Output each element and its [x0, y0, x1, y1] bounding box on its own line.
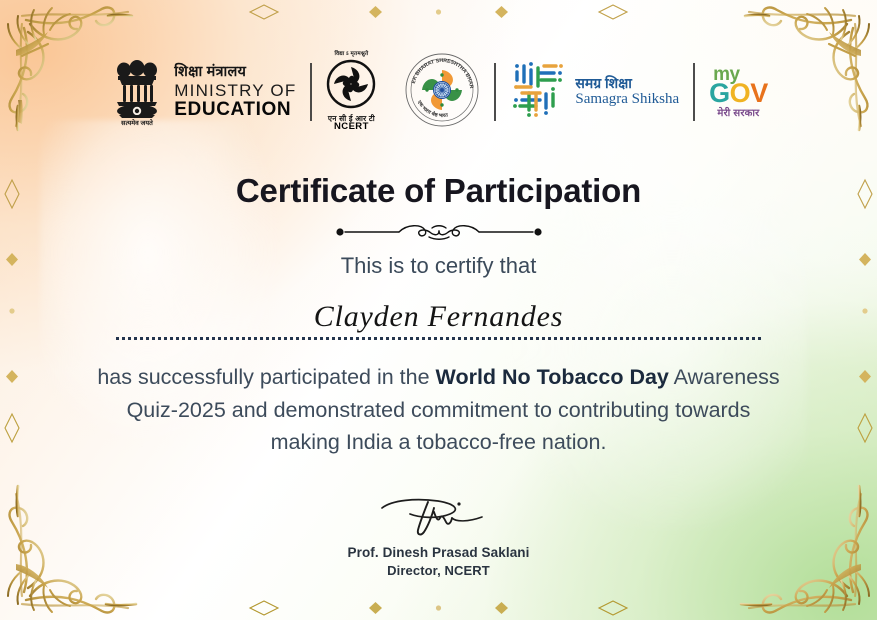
signature-icon	[0, 492, 877, 543]
recipient-name: Clayden Fernandes	[0, 300, 877, 334]
ek-bharat-emblem-icon: EK BHARAT SHRESHTHA BHARAT एक भारत श्रेष…	[404, 52, 480, 133]
ministry-hindi-label: शिक्षा मंत्रालय	[174, 65, 296, 80]
body-text-highlight: World No Tobacco Day	[436, 365, 669, 389]
ncert-logo: विद्या ऽ मृतमश्नुते एन सी ई आर टी	[312, 52, 390, 132]
title-flourish-divider	[0, 221, 877, 243]
ek-bharat-shreshtha-bharat-logo: EK BHARAT SHRESHTHA BHARAT एक भारत श्रेष…	[390, 52, 494, 132]
signature-block: Prof. Dinesh Prasad Saklani Director, NC…	[0, 492, 877, 578]
samagra-hindi-label: समग्र शिक्षा	[575, 75, 679, 91]
mygov-subtitle: मेरी सरकार	[717, 109, 759, 119]
logo-divider-1	[310, 63, 312, 121]
samagra-shiksha-logo: समग्र शिक्षा Samagra Shiksha	[496, 52, 693, 132]
mygov-letter-v: V	[750, 78, 768, 108]
signatory-name: Prof. Dinesh Prasad Saklani	[0, 545, 877, 560]
certificate-canvas: सत्यमेव जयते शिक्षा मंत्रालय MINISTRY OF…	[0, 0, 877, 620]
logo-divider-3	[693, 63, 695, 121]
logo-divider-2	[494, 63, 496, 121]
emblem-motto-text: सत्यमेव जयते	[120, 119, 153, 127]
border-rail-bottom	[120, 601, 757, 615]
name-dotted-rule	[116, 337, 761, 343]
certificate-body-text: has successfully participated in the Wor…	[90, 361, 787, 459]
mygov-gov-text: GOV	[709, 80, 768, 107]
certificate-title: Certificate of Participation	[0, 172, 877, 210]
ncert-english-label: NCERT	[334, 122, 369, 132]
ministry-of-education-logo: सत्यमेव जयते शिक्षा मंत्रालय MINISTRY OF…	[95, 52, 310, 132]
mygov-letter-o: O	[730, 78, 751, 108]
samagra-shiksha-icon	[510, 60, 566, 125]
ncert-emblem-icon	[326, 59, 376, 113]
mygov-letter-g: G	[709, 78, 730, 108]
state-emblem-icon: सत्यमेव जयते	[109, 53, 165, 132]
certify-line: This is to certify that	[0, 253, 877, 279]
ministry-english-line2: EDUCATION	[174, 100, 296, 119]
mygov-logo: my GOV मेरी सरकार	[695, 52, 782, 132]
samagra-english-label: Samagra Shiksha	[575, 91, 679, 108]
border-rail-top	[120, 5, 757, 19]
logo-strip: सत्यमेव जयते शिक्षा मंत्रालय MINISTRY OF…	[0, 52, 877, 132]
ncert-top-hindi: विद्या ऽ मृतमश्नुते	[335, 52, 369, 58]
ministry-english-line1: MINISTRY OF	[174, 82, 296, 99]
body-text-pre: has successfully participated in the	[97, 365, 435, 389]
signatory-role: Director, NCERT	[0, 563, 877, 578]
